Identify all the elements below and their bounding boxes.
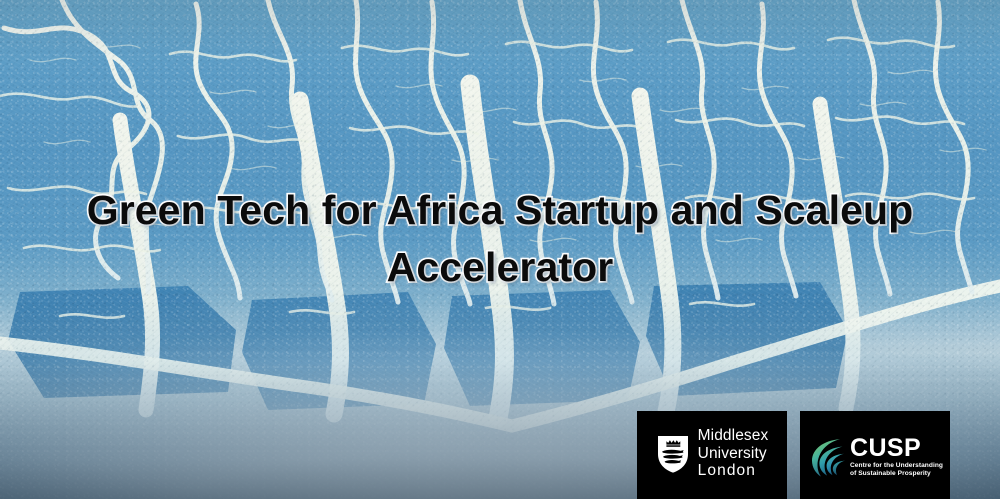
middlesex-wordmark: Middlesex University London xyxy=(698,427,769,480)
cusp-logo-panel[interactable]: CUSP Centre for the Understanding of Sus… xyxy=(800,411,950,499)
cusp-crescent-swoosh-icon xyxy=(807,436,847,478)
cusp-text-block: CUSP Centre for the Understanding of Sus… xyxy=(850,434,943,478)
partner-logo-strip: Middlesex University London xyxy=(637,411,950,499)
cusp-tagline: Centre for the Understanding of Sustaina… xyxy=(850,462,943,478)
middlesex-line-2: University xyxy=(698,445,769,463)
middlesex-university-logo-panel[interactable]: Middlesex University London xyxy=(637,411,787,499)
page-title: Green Tech for Africa Startup and Scaleu… xyxy=(60,182,940,296)
event-banner: Green Tech for Africa Startup and Scaleu… xyxy=(0,0,1000,499)
middlesex-line-3: London xyxy=(698,462,769,480)
middlesex-line-1: Middlesex xyxy=(698,427,769,445)
cusp-wordmark: CUSP xyxy=(850,436,943,460)
middlesex-shield-icon xyxy=(656,434,690,474)
banner-title-block: Green Tech for Africa Startup and Scaleu… xyxy=(0,182,1000,296)
middlesex-university-lockup: Middlesex University London xyxy=(656,427,769,480)
cusp-lockup: CUSP Centre for the Understanding of Sus… xyxy=(807,434,943,478)
